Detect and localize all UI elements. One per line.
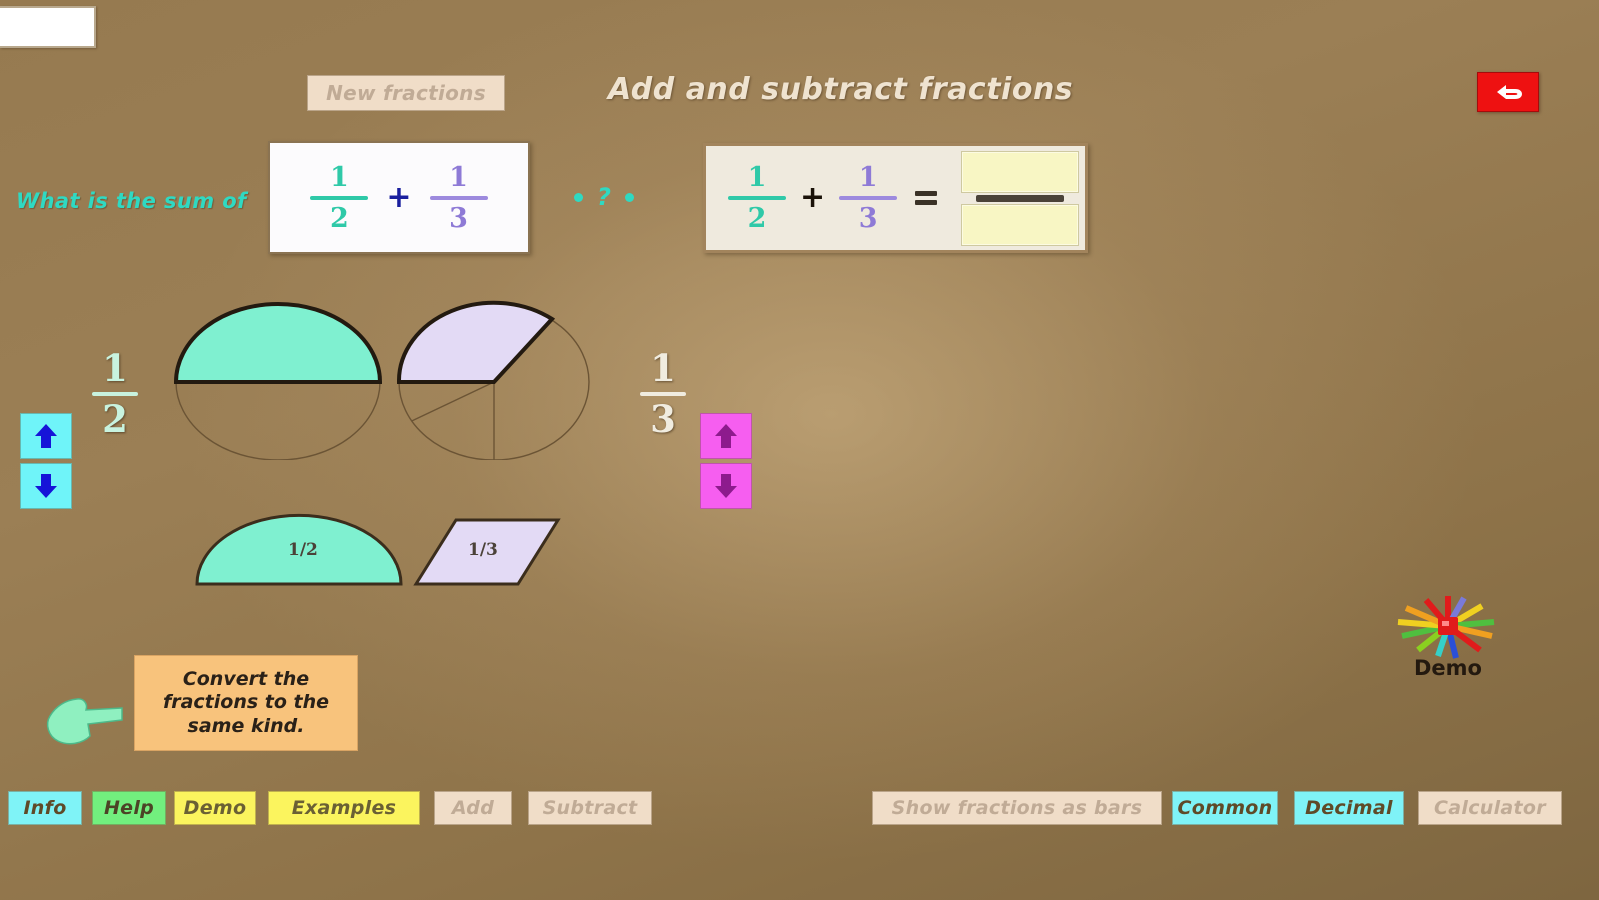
question-mark-glyph: ? xyxy=(597,185,611,209)
hint-text: Convert the fractions to the same kind. xyxy=(145,668,347,738)
fraction-bar xyxy=(430,196,488,200)
up-arrow-icon xyxy=(33,422,59,450)
fraction-bar xyxy=(310,196,368,200)
dot-left-icon xyxy=(574,193,583,202)
question-fraction-b: 1 3 xyxy=(430,164,488,232)
half-piece-label: 1/2 xyxy=(288,540,318,560)
down-arrow-icon xyxy=(33,472,59,500)
new-fractions-button[interactable]: New fractions xyxy=(307,75,505,111)
toolbar-button-calculator[interactable]: Calculator xyxy=(1418,791,1562,825)
plus-operator-icon: + xyxy=(386,183,411,213)
demo-widget[interactable]: Demo xyxy=(1392,592,1504,682)
half-spinner-down-button[interactable] xyxy=(20,463,72,509)
third-model-label: 1 3 xyxy=(640,350,686,438)
denominator: 3 xyxy=(650,401,676,438)
answer-numerator-input[interactable] xyxy=(961,151,1079,193)
half-spinner-up-button[interactable] xyxy=(20,413,72,459)
numerator: 1 xyxy=(748,164,767,191)
toolbar-button-examples[interactable]: Examples xyxy=(268,791,420,825)
third-piece-label: 1/3 xyxy=(468,540,498,560)
up-arrow-icon xyxy=(713,422,739,450)
question-panel: 1 2 + 1 3 xyxy=(268,141,530,254)
answer-fraction-bar xyxy=(976,195,1064,202)
question-prompt: What is the sum of xyxy=(16,189,247,213)
fraction-bar xyxy=(839,196,897,200)
question-mark-indicator: ? xyxy=(574,185,634,209)
fraction-bar xyxy=(728,196,786,200)
half-model-label: 1 2 xyxy=(92,350,138,438)
numerator: 1 xyxy=(650,350,676,387)
numerator: 1 xyxy=(449,164,468,191)
pointing-hand-icon xyxy=(44,690,126,752)
numerator: 1 xyxy=(859,164,878,191)
equation-fraction-a: 1 2 xyxy=(728,164,786,232)
fraction-bar xyxy=(92,392,138,396)
toolbar-button-help[interactable]: Help xyxy=(92,791,166,825)
answer-denominator-input[interactable] xyxy=(961,204,1079,246)
demo-caption: Demo xyxy=(1414,656,1482,680)
denominator: 2 xyxy=(330,205,349,232)
question-fraction-a: 1 2 xyxy=(310,164,368,232)
denominator: 3 xyxy=(449,205,468,232)
equals-sign-icon xyxy=(915,191,937,205)
denominator: 3 xyxy=(859,205,878,232)
toolbar-button-demo[interactable]: Demo xyxy=(174,791,256,825)
half-circle-model[interactable] xyxy=(170,300,390,460)
toolbar-button-add[interactable]: Add xyxy=(434,791,512,825)
down-arrow-icon xyxy=(713,472,739,500)
hint-callout: Convert the fractions to the same kind. xyxy=(134,655,358,751)
toolbar-button-common[interactable]: Common xyxy=(1172,791,1278,825)
equation-panel: 1 2 + 1 3 xyxy=(703,143,1088,253)
starburst-icon xyxy=(1396,592,1500,660)
third-spinner-down-button[interactable] xyxy=(700,463,752,509)
answer-fraction-input xyxy=(961,151,1079,246)
undo-button[interactable] xyxy=(1477,72,1539,112)
app-canvas: New fractions Add and subtract fractions… xyxy=(0,0,1599,900)
toolbar-button-decimal[interactable]: Decimal xyxy=(1294,791,1404,825)
top-left-input-field[interactable] xyxy=(0,6,96,48)
numerator: 1 xyxy=(330,164,349,191)
toolbar-button-info[interactable]: Info xyxy=(8,791,82,825)
toolbar-button-show-fractions-as-bars[interactable]: Show fractions as bars xyxy=(872,791,1162,825)
undo-arrow-icon xyxy=(1489,80,1527,104)
dot-right-icon xyxy=(625,193,634,202)
toolbar-button-subtract[interactable]: Subtract xyxy=(528,791,652,825)
equation-plus-icon: + xyxy=(800,183,825,213)
half-spinner xyxy=(20,413,72,509)
fraction-bar xyxy=(640,392,686,396)
third-spinner xyxy=(700,413,752,509)
page-title: Add and subtract fractions xyxy=(608,72,1068,107)
equation-fraction-b: 1 3 xyxy=(839,164,897,232)
third-circle-model[interactable] xyxy=(395,300,600,460)
third-spinner-up-button[interactable] xyxy=(700,413,752,459)
numerator: 1 xyxy=(102,350,128,387)
denominator: 2 xyxy=(748,205,767,232)
denominator: 2 xyxy=(102,401,128,438)
